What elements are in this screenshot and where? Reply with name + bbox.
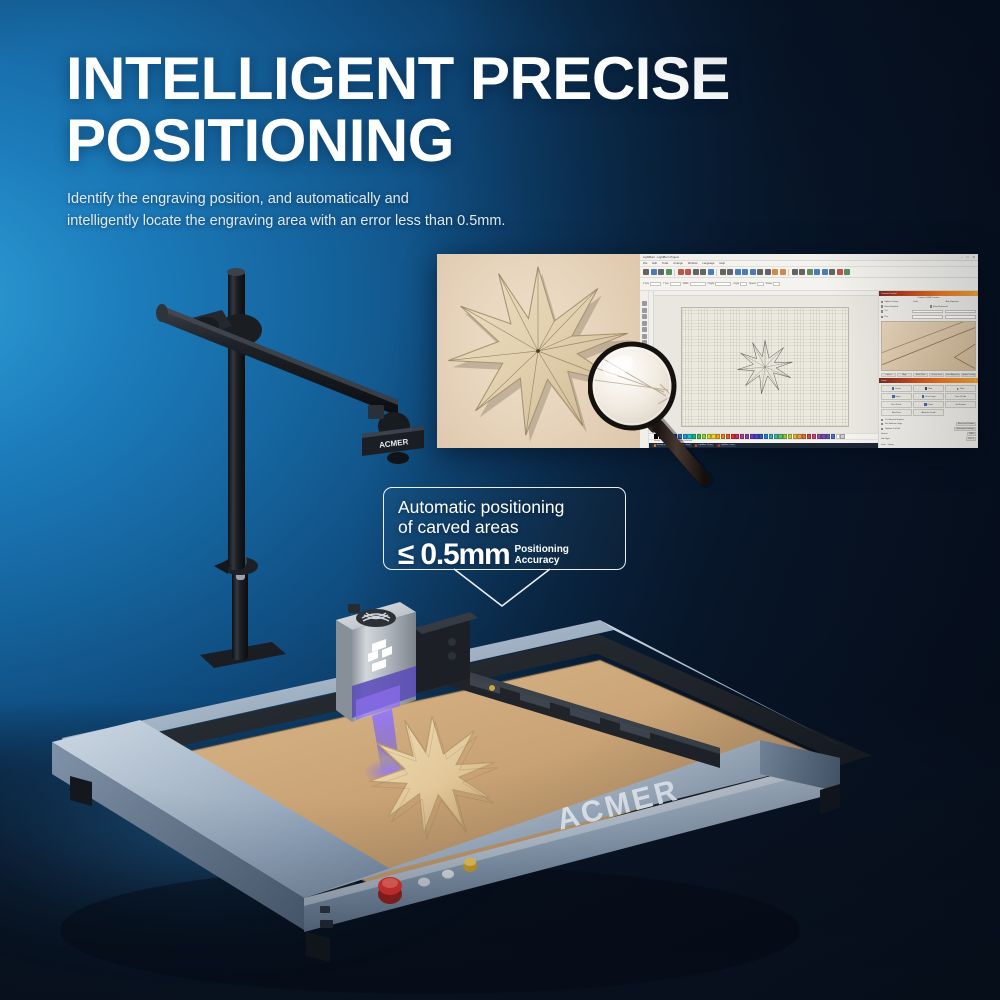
poster-stage: ACMER ACMER: [0, 0, 1000, 1000]
vignette-overlay: [0, 0, 1000, 1000]
